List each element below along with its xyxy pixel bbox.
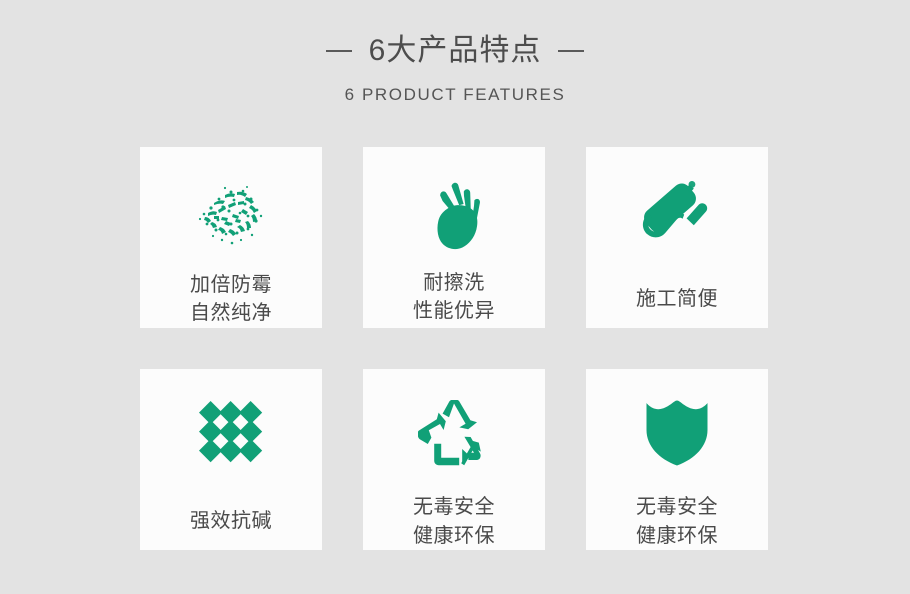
feature-card-scrub-resistance[interactable]: 耐擦洗 性能优异	[363, 147, 545, 328]
feature-card-alkali-resistance[interactable]: 强效抗碱	[140, 369, 322, 550]
title-row: 6大产品特点	[0, 36, 910, 66]
feature-label: 强效抗碱	[190, 507, 272, 535]
paint-roller-icon	[634, 177, 720, 255]
page-subtitle: 6 PRODUCT FEATURES	[0, 85, 910, 105]
shield-icon	[643, 399, 711, 467]
hand-icon	[421, 177, 487, 255]
mold-spores-icon	[188, 177, 274, 255]
feature-card-mold-resistance[interactable]: 加倍防霉 自然纯净	[140, 147, 322, 328]
recycle-icon	[418, 399, 490, 467]
feature-card-easy-application[interactable]: 施工简便	[586, 147, 768, 328]
page-title: 6大产品特点	[369, 36, 542, 66]
right-dash-icon	[558, 50, 584, 52]
feature-card-nontoxic-recycle[interactable]: 无毒安全 健康环保	[363, 369, 545, 550]
page-header: 6大产品特点 6 PRODUCT FEATURES	[0, 0, 910, 105]
feature-card-nontoxic-shield[interactable]: 无毒安全 健康环保	[586, 369, 768, 550]
feature-label: 加倍防霉 自然纯净	[190, 271, 272, 328]
feature-label: 无毒安全 健康环保	[636, 493, 718, 550]
feature-label: 无毒安全 健康环保	[413, 493, 495, 550]
diamond-grid-icon	[199, 399, 263, 465]
left-dash-icon	[326, 50, 352, 52]
feature-label: 施工简便	[636, 285, 718, 313]
feature-label: 耐擦洗 性能优异	[413, 269, 495, 326]
feature-grid: 加倍防霉 自然纯净 耐擦洗 性能优异	[140, 147, 769, 550]
